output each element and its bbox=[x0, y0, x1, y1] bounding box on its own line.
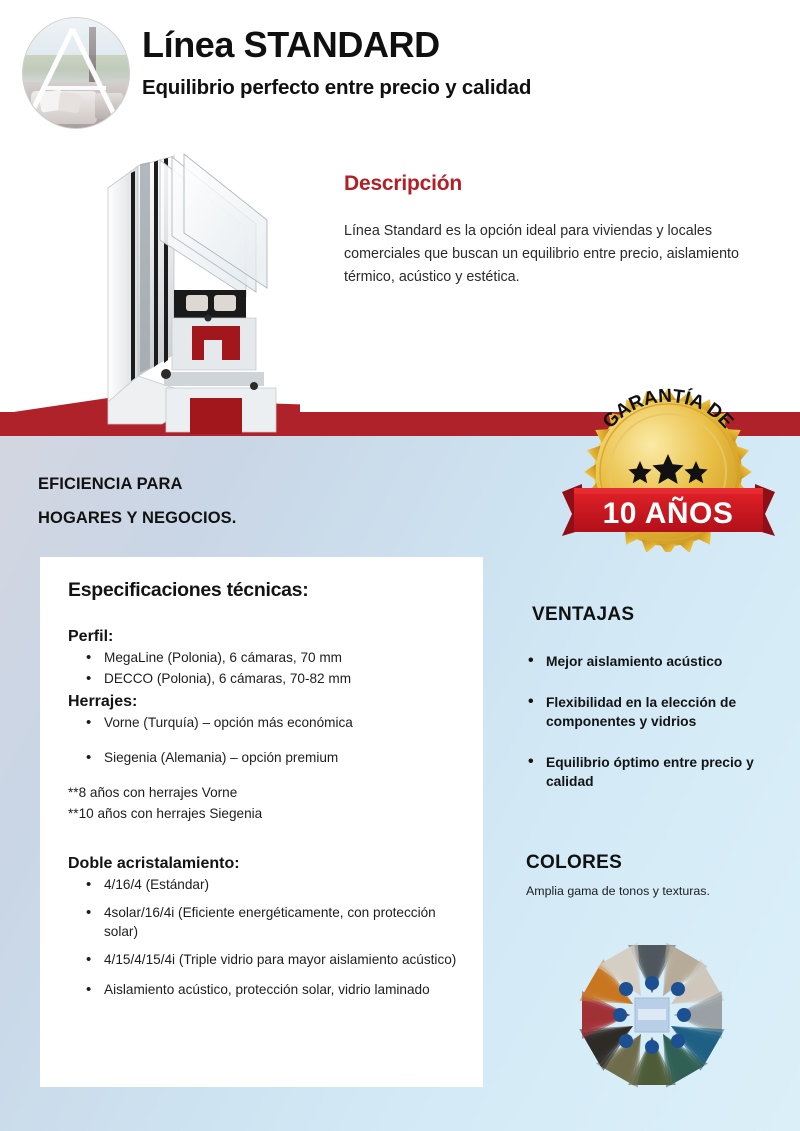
list-item: MegaLine (Polonia), 6 cámaras, 70 mm bbox=[84, 648, 457, 667]
list-item: Siegenia (Alemania) – opción premium bbox=[84, 748, 457, 767]
efficiency-line-2: HOGARES Y NEGOCIOS. bbox=[38, 501, 236, 535]
specs-warranty-notes: **8 años con herrajes Vorne **10 años co… bbox=[68, 783, 457, 824]
colors-title: COLORES bbox=[526, 852, 788, 874]
specs-hardware-list: Vorne (Turquía) – opción más económica S… bbox=[84, 713, 457, 768]
window-profile-illustration bbox=[104, 140, 294, 435]
specs-glazing-list: 4/16/4 (Estándar) 4solar/16/4i (Eficient… bbox=[84, 875, 457, 999]
specs-glazing-label: Doble acristalamiento: bbox=[68, 855, 457, 873]
specs-profile-label: Perfil: bbox=[68, 628, 457, 646]
badge-ribbon-text: 10 AÑOS bbox=[603, 496, 734, 530]
advantages-list: Mejor aislamiento acústico Flexibilidad … bbox=[526, 652, 788, 792]
list-item: 4/15/4/15/4i (Triple vidrio para mayor a… bbox=[84, 950, 457, 969]
guarantee-badge: GARANTÍA DE 10 AÑOS bbox=[556, 384, 781, 552]
poster-page: Línea STANDARD Equilibrio perfecto entre… bbox=[0, 0, 800, 1131]
list-item: 4solar/16/4i (Eficiente energéticamente,… bbox=[84, 903, 457, 942]
specs-profile-list: MegaLine (Polonia), 6 cámaras, 70 mm DEC… bbox=[84, 648, 457, 689]
description-body: Línea Standard es la opción ideal para v… bbox=[344, 220, 764, 289]
logo-photo bbox=[23, 18, 129, 128]
warranty-note: **10 años con herrajes Siegenia bbox=[68, 804, 457, 825]
list-item: Aislamiento acústico, protección solar, … bbox=[84, 980, 457, 999]
list-item: Mejor aislamiento acústico bbox=[526, 652, 788, 672]
efficiency-line-1: EFICIENCIA PARA bbox=[38, 467, 236, 501]
advantages-section: VENTAJAS Mejor aislamiento acústico Flex… bbox=[526, 604, 788, 813]
page-title: Línea STANDARD bbox=[142, 26, 531, 64]
description-title: Descripción bbox=[344, 172, 764, 196]
header-bar: Línea STANDARD Equilibrio perfecto entre… bbox=[0, 0, 800, 136]
colors-section: COLORES Amplia gama de tonos y texturas. bbox=[526, 852, 788, 901]
page-subtitle: Equilibrio perfecto entre precio y calid… bbox=[142, 76, 531, 100]
list-item: Equilibrio óptimo entre precio y calidad bbox=[526, 753, 788, 792]
brand-logo-icon bbox=[22, 17, 130, 129]
colors-subtitle: Amplia gama de tonos y texturas. bbox=[526, 883, 788, 901]
warranty-note: **8 años con herrajes Vorne bbox=[68, 783, 457, 804]
list-item: 4/16/4 (Estándar) bbox=[84, 875, 457, 894]
specs-title: Especificaciones técnicas: bbox=[68, 579, 457, 602]
list-item: Flexibilidad en la elección de component… bbox=[526, 693, 788, 732]
technical-specs-card: Especificaciones técnicas: Perfil: MegaL… bbox=[40, 557, 483, 1087]
color-swatch-wheel-icon bbox=[540, 940, 764, 1090]
efficiency-heading: EFICIENCIA PARA HOGARES Y NEGOCIOS. bbox=[38, 467, 236, 536]
list-item: DECCO (Polonia), 6 cámaras, 70-82 mm bbox=[84, 669, 457, 688]
list-item: Vorne (Turquía) – opción más económica bbox=[84, 713, 457, 732]
description-block: Descripción Línea Standard es la opción … bbox=[344, 172, 764, 289]
header-text-group: Línea STANDARD Equilibrio perfecto entre… bbox=[142, 26, 531, 100]
advantages-title: VENTAJAS bbox=[532, 604, 788, 626]
specs-hardware-label: Herrajes: bbox=[68, 693, 457, 711]
